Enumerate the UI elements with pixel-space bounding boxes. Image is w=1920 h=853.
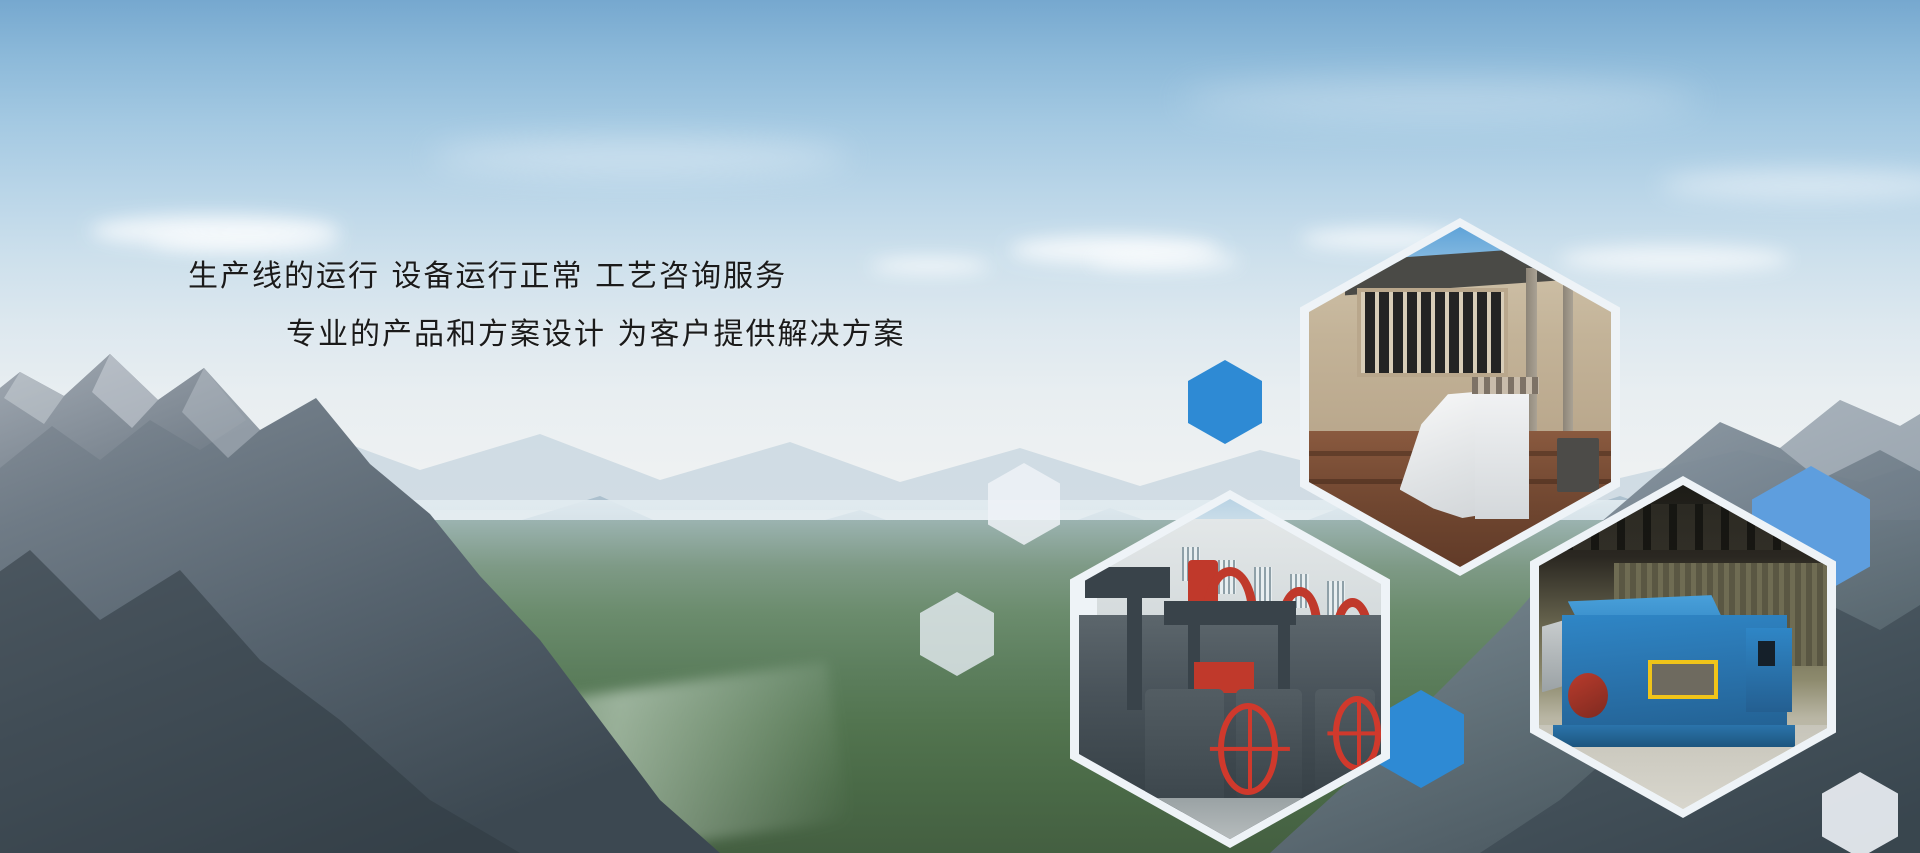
mountain-left [0, 300, 780, 853]
cloud [1180, 80, 1700, 120]
hero-banner: 生产线的运行 设备运行正常 工艺咨询服务 专业的产品和方案设计 为客户提供解决方… [0, 0, 1920, 853]
headline-line-1: 生产线的运行 设备运行正常 工艺咨询服务 [188, 262, 1010, 292]
cloud [430, 140, 850, 174]
headline-line-2: 专业的产品和方案设计 为客户提供解决方案 [286, 320, 1010, 350]
headline-block: 生产线的运行 设备运行正常 工艺咨询服务 专业的产品和方案设计 为客户提供解决方… [0, 262, 1010, 350]
cloud [1090, 252, 1240, 270]
hex-photo-grey-machinery[interactable] [1070, 490, 1390, 848]
hex-photo-blue-shredder[interactable] [1530, 476, 1836, 818]
cloud [150, 232, 340, 252]
